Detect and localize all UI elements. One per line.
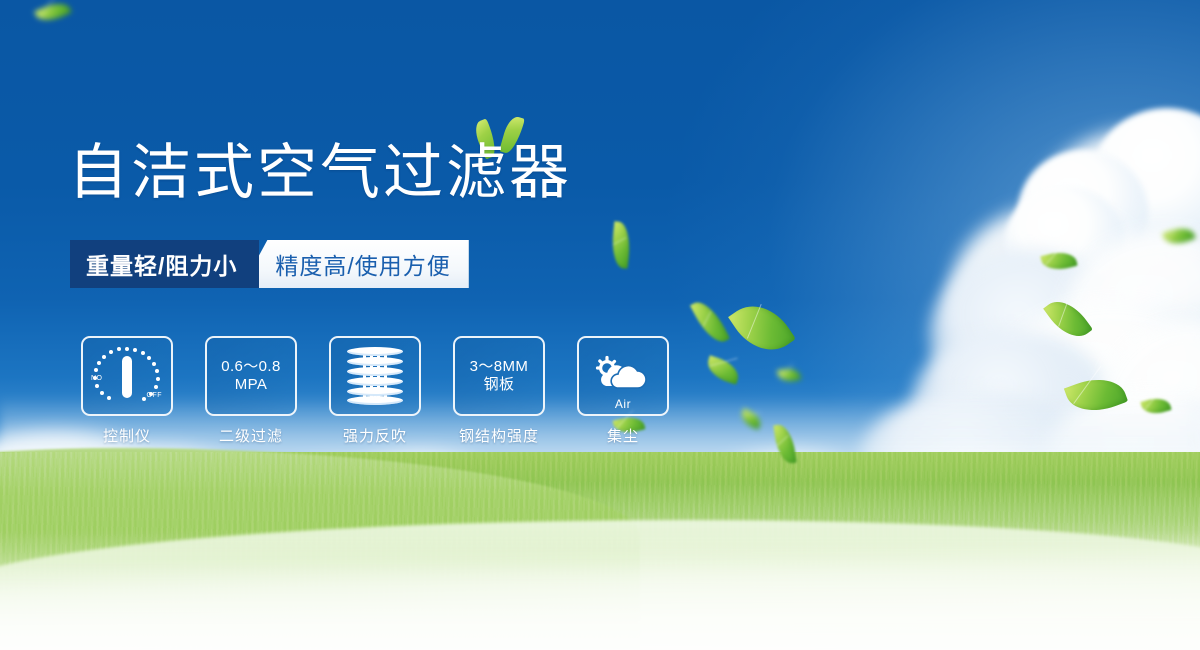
feature-label: 集尘 xyxy=(568,425,678,446)
pressure-unit-text: MPA xyxy=(235,376,268,394)
pressure-text-icon: 0.6～0.8 xyxy=(221,358,281,376)
feature-label: 强力反吹 xyxy=(320,425,430,446)
cloud-sun-shape xyxy=(593,354,653,394)
page-title: 自洁式空气过滤器 xyxy=(68,143,572,203)
subtitle-right: 精度高/使用方便 xyxy=(241,240,468,288)
feature-icon-box: NO OFF xyxy=(81,336,173,416)
feature-list: NO OFF 控制仪 0.6～0.8 MPA 二级过滤 xyxy=(72,336,678,446)
feature-label: 钢结构强度 xyxy=(444,425,554,446)
feature-icon-box: 3～8MM 钢板 xyxy=(453,336,545,416)
dial-gauge-icon: NO OFF xyxy=(91,345,163,407)
feature-item-secondary-filter: 0.6～0.8 MPA 二级过滤 xyxy=(196,336,306,446)
feature-item-controller: NO OFF 控制仪 xyxy=(72,336,182,446)
steel-plate-text-icon: 3～8MM xyxy=(470,358,529,376)
feature-icon-box xyxy=(329,336,421,416)
feature-item-steel-strength: 3～8MM 钢板 钢结构强度 xyxy=(444,336,554,446)
subtitle-left: 重量轻/阻力小 xyxy=(70,240,259,288)
dial-off-label: OFF xyxy=(147,392,163,399)
feature-label: 二级过滤 xyxy=(196,425,306,446)
feature-icon-box: 0.6～0.8 MPA xyxy=(205,336,297,416)
subtitle-bar: 重量轻/阻力小 精度高/使用方便 xyxy=(70,240,469,288)
product-banner: 自洁式空气过滤器 重量轻/阻力小 精度高/使用方便 xyxy=(0,0,1200,650)
steel-plate-unit-text: 钢板 xyxy=(484,376,515,394)
air-cloud-icon: Air xyxy=(593,354,653,398)
filter-coil-icon xyxy=(347,347,403,405)
feature-icon-box: Air xyxy=(577,336,669,416)
air-text-label: Air xyxy=(593,397,653,411)
feature-item-dust-collection: Air 集尘 xyxy=(568,336,678,446)
dial-no-label: NO xyxy=(91,375,103,382)
feature-item-backblow: 强力反吹 xyxy=(320,336,430,446)
feature-label: 控制仪 xyxy=(72,425,182,446)
dial-needle xyxy=(122,356,132,398)
